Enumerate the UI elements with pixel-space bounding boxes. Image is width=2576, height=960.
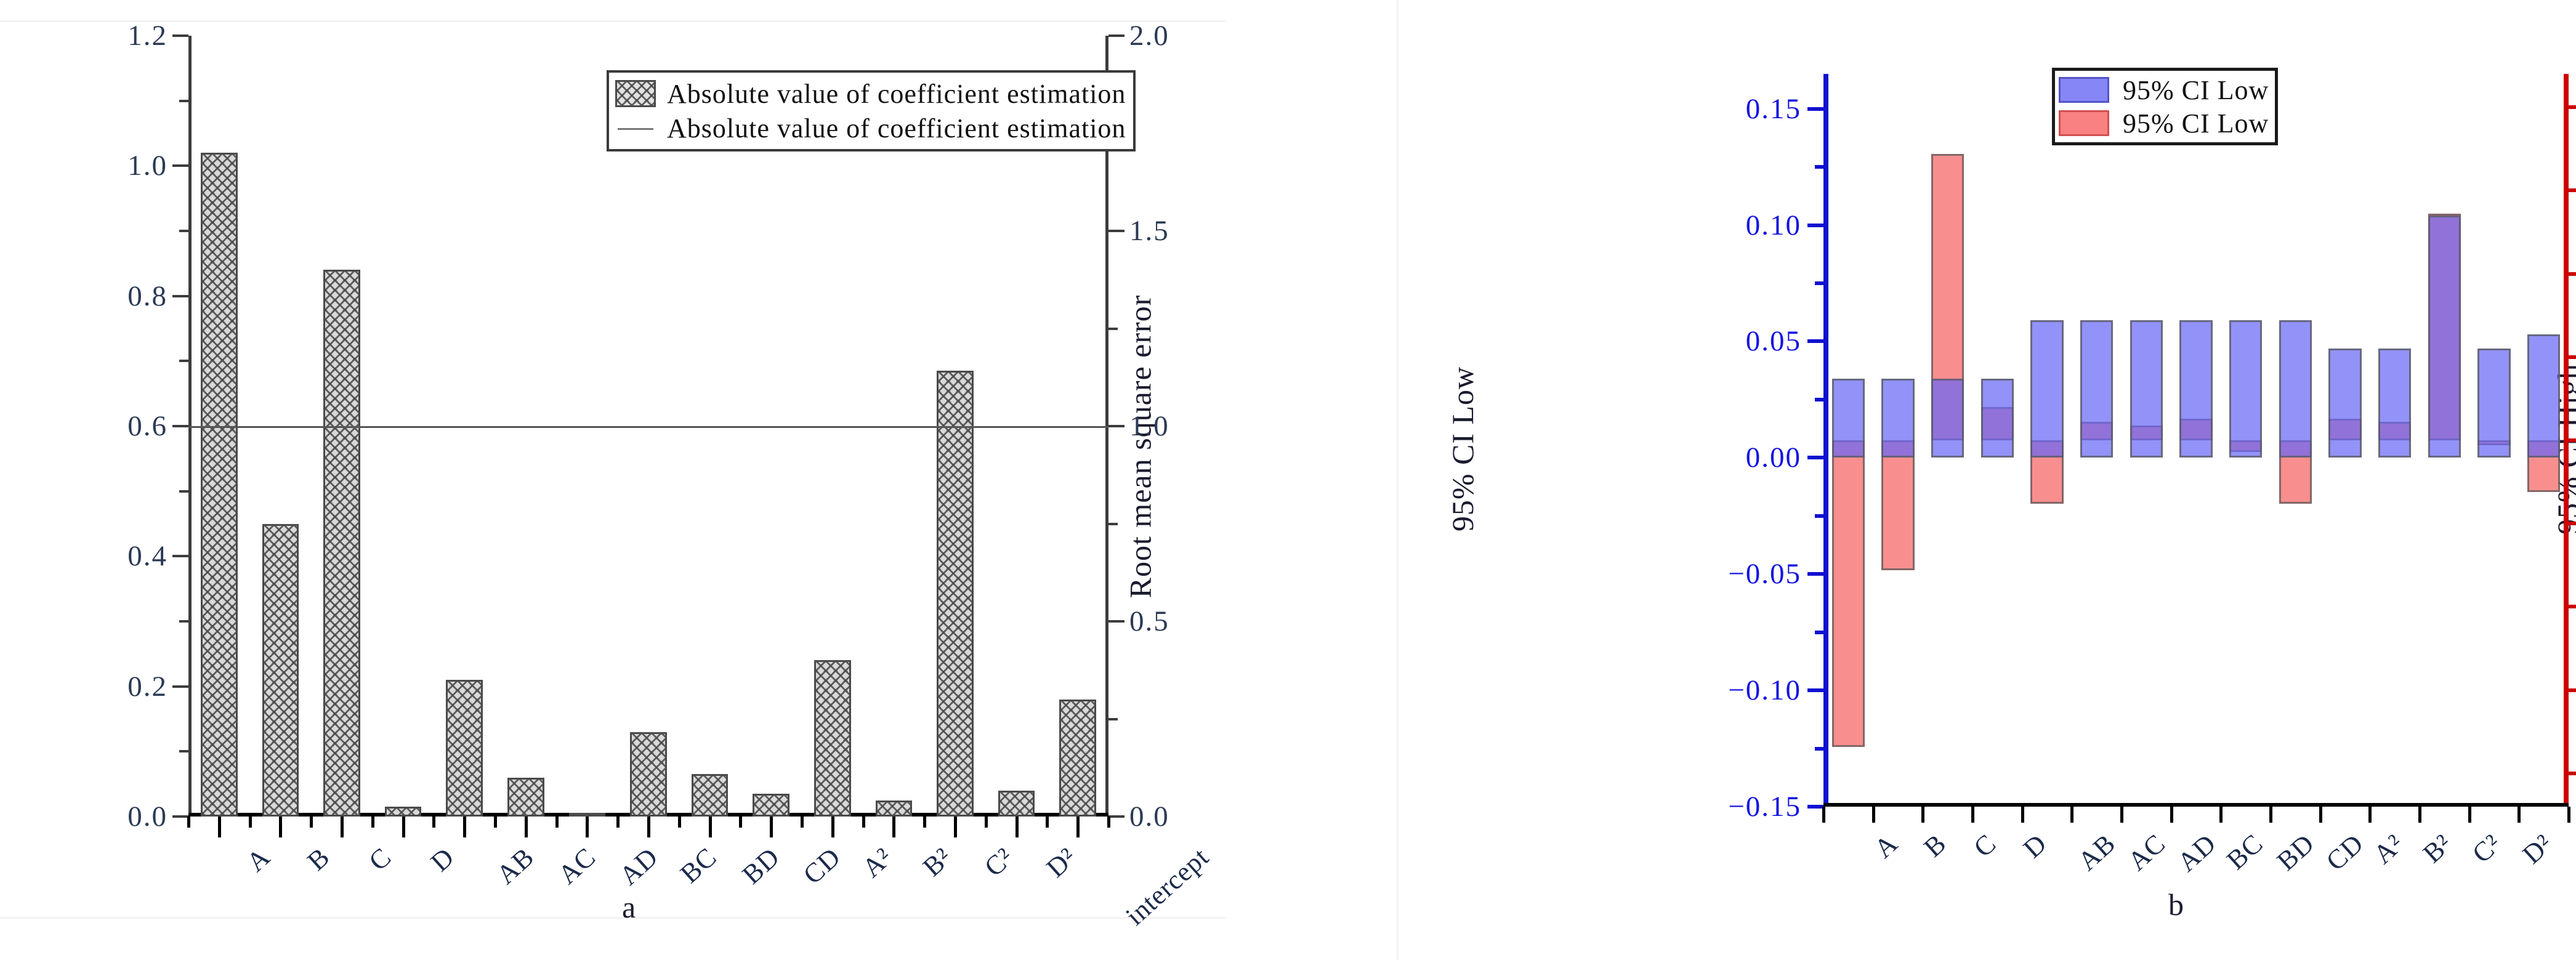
panel-a-left-tick-label: 1.0 bbox=[127, 149, 168, 182]
panel-a-left-tick bbox=[172, 555, 188, 557]
panel-b-x-label: B² bbox=[2417, 828, 2458, 869]
panel-b-bar-low bbox=[2130, 320, 2163, 458]
panel-a-right-tick-label: 1.0 bbox=[1129, 409, 1169, 443]
panel-b-x-tick bbox=[1921, 807, 1924, 823]
panel-b-right-axis-line bbox=[2564, 74, 2569, 807]
panel-a-right-tick bbox=[1108, 523, 1118, 525]
panel-a-x-tick bbox=[892, 817, 895, 837]
panel-a-right-tick bbox=[1108, 620, 1124, 623]
panel-a-x-tick-minor bbox=[494, 817, 497, 828]
panel-a-x-tick-minor bbox=[616, 817, 620, 828]
panel-b-left-axis-line bbox=[1823, 74, 1828, 807]
panel-b-x-label: C bbox=[1967, 828, 2002, 863]
panel-a-bar bbox=[262, 524, 299, 817]
panel-b-left-tick bbox=[1815, 631, 1823, 634]
red-square-swatch-icon bbox=[2059, 110, 2109, 136]
panel-a-x-tick bbox=[1015, 817, 1019, 837]
panel-b-bar-low bbox=[2527, 334, 2560, 458]
panel-a-right-tick-label: 0.5 bbox=[1129, 605, 1169, 638]
panel-a-left-tick bbox=[179, 750, 188, 752]
panel-a-x-tick bbox=[279, 817, 282, 837]
panel-a-x-tick bbox=[770, 817, 773, 837]
panel-a-legend-item-0[interactable]: Absolute value of coefficient estimation bbox=[615, 76, 1126, 111]
panel-b-left-tick bbox=[1807, 224, 1823, 227]
panel-a-x-tick-minor bbox=[923, 817, 926, 828]
blue-square-swatch-icon bbox=[2059, 77, 2109, 103]
panel-b-bar-low bbox=[2328, 349, 2361, 458]
panel-a-legend-label-1: Absolute value of coefficient estimation bbox=[667, 113, 1126, 144]
panel-b-bar-low bbox=[2030, 320, 2063, 458]
panel-b-bar-low bbox=[2279, 320, 2312, 458]
panel-b-bar-low bbox=[2080, 320, 2113, 458]
panel-a-x-label: AD bbox=[613, 841, 664, 892]
panel-b-left-tick bbox=[1815, 747, 1823, 751]
panel-b-left-tick-label: 0.05 bbox=[1746, 325, 1801, 358]
panel-b-bar-low bbox=[2229, 320, 2262, 458]
panel-a-left-tick bbox=[172, 815, 188, 818]
panel-b-x-tick bbox=[2269, 807, 2272, 823]
panel-a-bar bbox=[630, 732, 667, 817]
panel-b-bar-low bbox=[1881, 379, 1914, 458]
panel-a-left-tick bbox=[179, 230, 188, 232]
panel-b-left-tick bbox=[1807, 805, 1823, 809]
panel-a-x-tick bbox=[463, 817, 466, 837]
panel-a-left-tick bbox=[172, 685, 188, 688]
panel-a-left-tick bbox=[179, 490, 188, 493]
panel-a-bar bbox=[876, 801, 913, 817]
panel-b-left-tick bbox=[1815, 398, 1823, 401]
panel-a-left-tick-label: 0.4 bbox=[127, 539, 168, 573]
panel-b-x-label: AD bbox=[2171, 828, 2223, 878]
panel-a-x-tick-minor bbox=[187, 817, 190, 828]
panel-b-right-tick bbox=[2569, 438, 2576, 442]
panel-a-x-tick bbox=[831, 817, 834, 837]
panel-a-x-tick-minor bbox=[985, 817, 988, 828]
panel-a-legend-label-0: Absolute value of coefficient estimation bbox=[667, 78, 1126, 110]
panel-a-right-tick bbox=[1108, 718, 1118, 720]
panel-b: 95% CI Low 95% CI High −0.15−0.10−0.050.… bbox=[1397, 0, 2576, 960]
panel-a-plot-area: 0.00.20.40.60.81.01.2 0.00.51.01.52.0 AB… bbox=[188, 36, 1108, 817]
panel-a-threshold-line-rule bbox=[188, 426, 1108, 428]
panel-a-left-tick bbox=[179, 360, 188, 362]
panel-b-x-tick bbox=[2170, 807, 2173, 823]
panel-b-legend-label-1: 95% CI Low bbox=[2123, 108, 2269, 139]
panel-a-left-tick-label: 0.0 bbox=[127, 800, 168, 833]
panel-b-bar-low bbox=[2477, 349, 2510, 458]
panel-b-bar-low bbox=[2179, 320, 2212, 458]
panel-a-left-tick-label: 1.2 bbox=[127, 19, 168, 52]
panel-a-x-tick-minor bbox=[310, 817, 313, 828]
panel-b-x-tick bbox=[2120, 807, 2123, 823]
panel-a-left-tick-label: 0.6 bbox=[127, 409, 168, 443]
panel-b-bar-low bbox=[1931, 379, 1964, 458]
panel-a-x-label: D bbox=[424, 841, 460, 878]
panel-b-x-tick bbox=[1872, 807, 1875, 823]
panel-b-x-label: D bbox=[2017, 828, 2053, 865]
panel-b-legend-item-1[interactable]: 95% CI Low bbox=[2059, 107, 2269, 140]
panel-a-legend[interactable]: Absolute value of coefficient estimation… bbox=[607, 70, 1136, 151]
panel-a-x-label: CD bbox=[797, 841, 847, 890]
figure-canvas: Absolute value of coefficient estimation… bbox=[0, 0, 2576, 960]
panel-b-x-tick bbox=[2418, 807, 2421, 823]
panel-b-x-label: AC bbox=[2122, 828, 2171, 877]
panel-a-x-label: C² bbox=[978, 841, 1019, 883]
panel-a-x-label: A² bbox=[856, 841, 898, 884]
panel-a-x-tick-minor bbox=[1046, 817, 1049, 828]
panel-b-x-label: CD bbox=[2320, 828, 2370, 877]
panel-b-right-tick bbox=[2569, 105, 2576, 109]
panel-b-left-tick bbox=[1815, 281, 1823, 285]
panel-b-x-tick bbox=[2567, 807, 2570, 823]
panel-b-left-tick bbox=[1815, 165, 1823, 169]
panel-b-left-tick bbox=[1807, 339, 1823, 343]
panel-b-left-tick-label: −0.05 bbox=[1728, 557, 1801, 591]
panel-b-left-tick-label: 0.00 bbox=[1746, 441, 1801, 474]
panel-b-left-tick bbox=[1807, 572, 1823, 576]
panel-a-x-tick-minor bbox=[739, 817, 742, 828]
panel-b-x-tick bbox=[1822, 807, 1825, 823]
panel-b-bar-high bbox=[1881, 440, 1914, 570]
panel-b-x-tick bbox=[2468, 807, 2471, 823]
panel-a-x-tick-minor bbox=[862, 817, 865, 828]
panel-b-x-label: BD bbox=[2271, 828, 2320, 877]
panel-b-right-tick bbox=[2569, 688, 2576, 692]
panel-a-right-tick bbox=[1108, 425, 1124, 427]
panel-a-left-tick bbox=[179, 100, 188, 102]
panel-a-left-tick-label: 0.2 bbox=[127, 670, 168, 703]
panel-b-left-tick bbox=[1807, 456, 1823, 459]
panel-a-y-axis-right-title: Root mean square error bbox=[1122, 295, 1158, 599]
panel-b-bottom-axis-line bbox=[1823, 803, 2569, 807]
panel-b-x-label: BC bbox=[2221, 828, 2269, 876]
panel-a-caption: a bbox=[622, 889, 636, 925]
panel-a-bar bbox=[507, 778, 544, 817]
panel-b-left-tick-label: 0.10 bbox=[1746, 209, 1801, 242]
panel-a-x-label: B² bbox=[917, 841, 958, 883]
panel-a-right-tick-label: 1.5 bbox=[1129, 214, 1169, 248]
panel-a-bar bbox=[753, 794, 789, 817]
panel-b-bar-high bbox=[1832, 440, 1865, 747]
panel-b-right-tick bbox=[2569, 522, 2576, 525]
panel-a-bar bbox=[323, 270, 360, 817]
panel-a-x-label: BD bbox=[736, 841, 786, 890]
panel-a-x-tick-minor bbox=[678, 817, 681, 828]
panel-b-x-tick bbox=[2368, 807, 2372, 823]
panel-a-x-tick bbox=[218, 817, 221, 837]
panel-a-x-tick bbox=[709, 817, 712, 837]
panel-b-left-tick-label: −0.10 bbox=[1728, 674, 1801, 707]
panel-a-x-tick-minor bbox=[432, 817, 435, 828]
panel-a-x-tick bbox=[954, 817, 957, 837]
panel-b-x-tick bbox=[1971, 807, 1974, 823]
panel-a-bar bbox=[937, 371, 974, 817]
hatched-bar-swatch-icon bbox=[615, 80, 656, 107]
panel-a-right-tick-label: 2.0 bbox=[1129, 19, 1169, 52]
panel-b-bar-low bbox=[1832, 379, 1865, 458]
panel-a-bar bbox=[692, 774, 729, 817]
panel-b-x-label: C² bbox=[2466, 828, 2508, 869]
panel-b-right-tick bbox=[2569, 188, 2576, 192]
panel-b-right-tick bbox=[2569, 605, 2576, 608]
panel-b-right-tick bbox=[2569, 272, 2576, 276]
panel-b-x-label: B bbox=[1918, 828, 1953, 863]
panel-b-x-label: A bbox=[1868, 828, 1904, 865]
panel-a-x-tick bbox=[525, 817, 528, 837]
panel-b-left-tick bbox=[1807, 688, 1823, 692]
panel-a-x-tick bbox=[402, 817, 405, 837]
panel-a-right-tick bbox=[1108, 230, 1124, 232]
panel-a-x-label: C bbox=[363, 841, 398, 877]
panel-a-x-label: B bbox=[301, 841, 336, 877]
panel-a-left-tick bbox=[172, 164, 188, 167]
panel-b-left-tick bbox=[1815, 514, 1823, 518]
panel-b-plot-area: −0.15−0.10−0.050.000.050.100.15 −1.0−0.5… bbox=[1823, 74, 2569, 807]
panel-a-x-label: intercept bbox=[1120, 841, 1215, 932]
panel-b-x-label: AB bbox=[2072, 828, 2122, 877]
panel-b-caption: b bbox=[2168, 887, 2184, 922]
panel-a-left-tick bbox=[172, 425, 188, 427]
panel-a-left-tick bbox=[179, 620, 188, 623]
line-swatch-icon bbox=[615, 115, 656, 142]
panel-b-x-tick bbox=[2219, 807, 2223, 823]
panel-b-x-label: A² bbox=[2367, 828, 2410, 870]
panel-b-bar-low bbox=[2378, 349, 2411, 458]
panel-b-bar-low bbox=[2428, 216, 2461, 458]
panel-a-x-tick bbox=[1076, 817, 1080, 837]
panel-a-left-tick bbox=[172, 295, 188, 297]
panel-a-x-tick-minor bbox=[371, 817, 374, 828]
panel-a-bar bbox=[446, 680, 483, 817]
panel-a-right-tick bbox=[1108, 328, 1118, 330]
panel-a-x-tick-minor bbox=[249, 817, 252, 828]
panel-a-x-label: AC bbox=[552, 841, 602, 890]
panel-a-x-tick bbox=[586, 817, 589, 837]
panel-b-legend[interactable]: 95% CI Low 95% CI Low bbox=[2052, 68, 2278, 145]
panel-b-legend-label-0: 95% CI Low bbox=[2123, 75, 2269, 106]
panel-a-bar bbox=[1059, 700, 1096, 817]
panel-a-bar bbox=[201, 153, 238, 817]
panel-a-x-tick-minor bbox=[801, 817, 804, 828]
panel-b-right-tick bbox=[2569, 355, 2576, 359]
panel-b-left-tick-label: −0.15 bbox=[1728, 790, 1801, 823]
panel-b-right-tick bbox=[2569, 772, 2576, 775]
panel-b-x-tick bbox=[2021, 807, 2024, 823]
panel-b-x-tick bbox=[2517, 807, 2521, 823]
panel-a-x-tick-minor bbox=[555, 817, 559, 828]
panel-a-right-tick bbox=[1108, 34, 1124, 37]
panel-a-x-label: AB bbox=[490, 841, 540, 890]
panel-b-x-tick bbox=[2319, 807, 2322, 823]
panel-a-x-label: D² bbox=[1040, 841, 1083, 884]
panel-a-x-label: A bbox=[240, 841, 276, 878]
panel-b-x-tick bbox=[2070, 807, 2073, 823]
panel-a: Absolute value of coefficient estimation… bbox=[0, 20, 1225, 919]
panel-a-right-tick-label: 0.0 bbox=[1129, 800, 1169, 833]
panel-a-bar bbox=[385, 807, 422, 817]
panel-b-y-axis-left-title: 95% CI Low bbox=[1445, 366, 1480, 531]
panel-b-legend-item-0[interactable]: 95% CI Low bbox=[2059, 73, 2269, 107]
panel-a-left-tick-label: 0.8 bbox=[127, 280, 168, 313]
panel-b-left-tick bbox=[1807, 107, 1823, 111]
panel-a-bar bbox=[814, 660, 851, 817]
panel-b-x-label: D² bbox=[2516, 828, 2559, 870]
panel-a-left-tick bbox=[172, 34, 188, 37]
panel-a-legend-item-1[interactable]: Absolute value of coefficient estimation bbox=[615, 111, 1126, 145]
panel-a-right-tick bbox=[1108, 815, 1124, 818]
panel-a-bar bbox=[998, 791, 1035, 817]
panel-a-x-tick bbox=[647, 817, 650, 837]
panel-a-x-tick bbox=[341, 817, 344, 837]
panel-a-x-label: BC bbox=[674, 841, 723, 890]
panel-b-left-tick-label: 0.15 bbox=[1746, 92, 1801, 126]
panel-a-x-tick-minor bbox=[1107, 817, 1110, 828]
panel-b-bar-low bbox=[1981, 379, 2014, 458]
